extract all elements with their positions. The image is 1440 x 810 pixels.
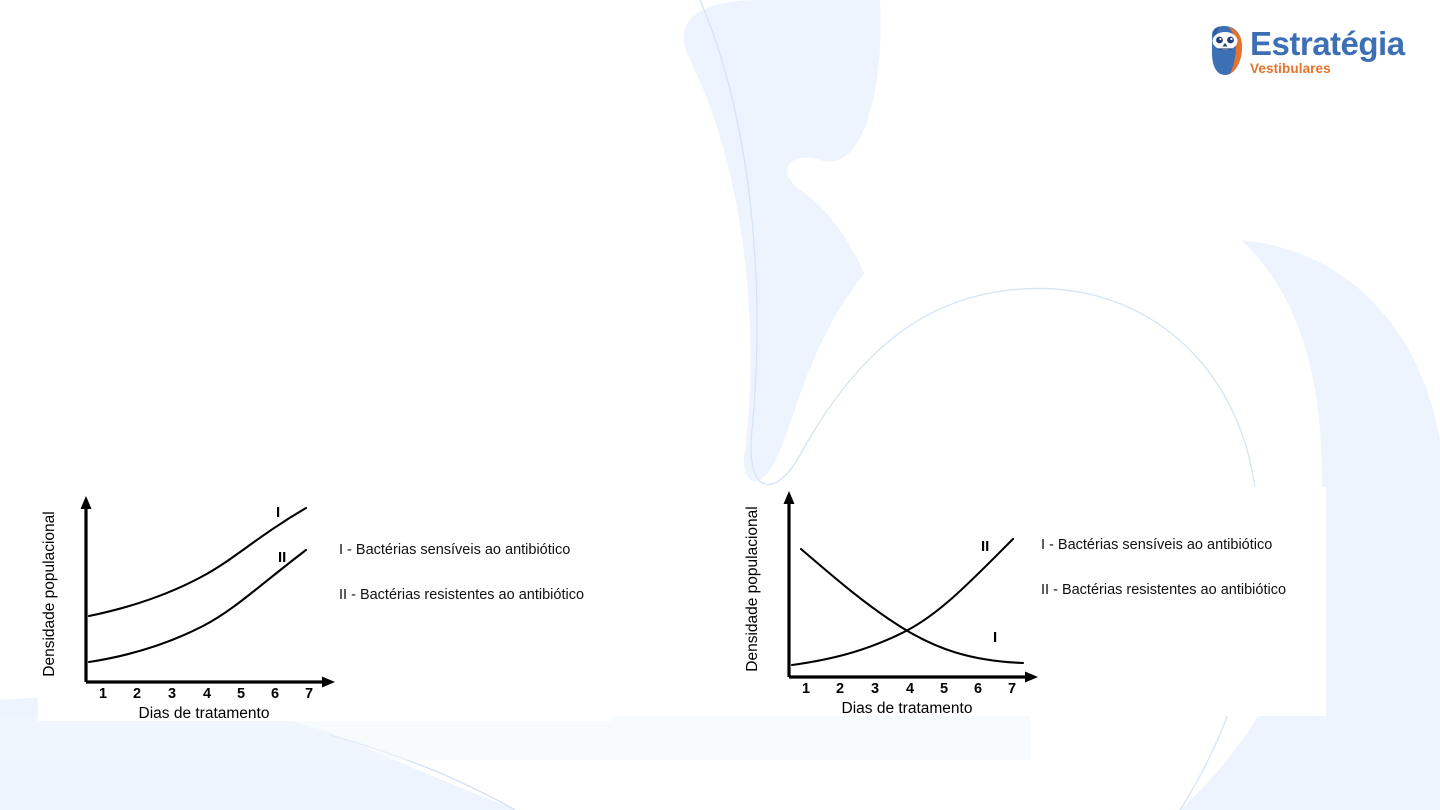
right-chart-graphic: II I 1 2 3 4 5 6 7 Dias de tratamento De… (741, 487, 1041, 716)
legend-left: I - Bactérias sensíveis ao antibiótico I… (339, 542, 584, 603)
owl-icon (1206, 25, 1246, 77)
curve-I (89, 508, 306, 616)
left-chart-graphic: I II 1 2 3 4 5 6 7 Dias de tratamento De… (38, 492, 338, 721)
xtick-3: 3 (168, 686, 176, 702)
y-axis-arrow (784, 491, 795, 504)
xtick-6: 6 (974, 681, 982, 697)
brand-title: Estratégia (1250, 27, 1405, 60)
legend-right: I - Bactérias sensíveis ao antibiótico I… (1041, 537, 1286, 598)
owl-eye-left-glint (1219, 38, 1221, 40)
xtick-4: 4 (203, 686, 211, 702)
y-axis-title: Densidade populacional (41, 511, 58, 676)
xtick-1: 1 (99, 686, 107, 702)
curve-label-I: I (993, 629, 997, 646)
x-axis-title: Dias de tratamento (842, 700, 973, 716)
owl-face (1213, 32, 1238, 50)
xtick-2: 2 (836, 681, 844, 697)
curve-label-I: I (276, 504, 280, 521)
owl-eye-left (1216, 37, 1223, 44)
xtick-5: 5 (940, 681, 948, 697)
curve-label-II: II (278, 549, 286, 566)
figure-right: II I 1 2 3 4 5 6 7 Dias de tratamento De… (741, 487, 1326, 716)
xtick-2: 2 (133, 686, 141, 702)
legend-item-II: II - Bactérias resistentes ao antibiótic… (339, 587, 584, 603)
curve-label-II: II (981, 538, 989, 555)
slide-canvas: Estratégia Vestibulares I II 1 2 3 4 5 6 (0, 0, 1440, 810)
figure-left: I II 1 2 3 4 5 6 7 Dias de tratamento De… (38, 492, 612, 721)
legend-item-I: I - Bactérias sensíveis ao antibiótico (339, 542, 584, 558)
outline-curve-bottom-left (330, 735, 515, 810)
curve-II (792, 539, 1013, 665)
owl-eye-right-glint (1230, 38, 1232, 40)
xtick-3: 3 (871, 681, 879, 697)
brand-subtitle: Vestibulares (1250, 62, 1331, 76)
legend-item-II: II - Bactérias resistentes ao antibiótic… (1041, 582, 1286, 598)
y-axis-arrow (81, 496, 92, 509)
xtick-7: 7 (305, 686, 313, 702)
xtick-4: 4 (906, 681, 914, 697)
x-axis-arrow (322, 677, 335, 688)
x-axis-title: Dias de tratamento (139, 705, 270, 721)
xtick-1: 1 (802, 681, 810, 697)
brand-wordmark: Estratégia Vestibulares (1250, 27, 1405, 76)
xtick-6: 6 (271, 686, 279, 702)
y-axis-title: Densidade populacional (744, 506, 761, 671)
curve-II (89, 550, 306, 662)
brand-logo: Estratégia Vestibulares (1206, 22, 1411, 80)
pale-band (0, 716, 1030, 760)
x-axis-arrow (1025, 672, 1038, 683)
xtick-7: 7 (1008, 681, 1016, 697)
xtick-5: 5 (237, 686, 245, 702)
legend-item-I: I - Bactérias sensíveis ao antibiótico (1041, 537, 1286, 553)
owl-eye-right (1227, 37, 1234, 44)
curve-I (801, 549, 1023, 663)
